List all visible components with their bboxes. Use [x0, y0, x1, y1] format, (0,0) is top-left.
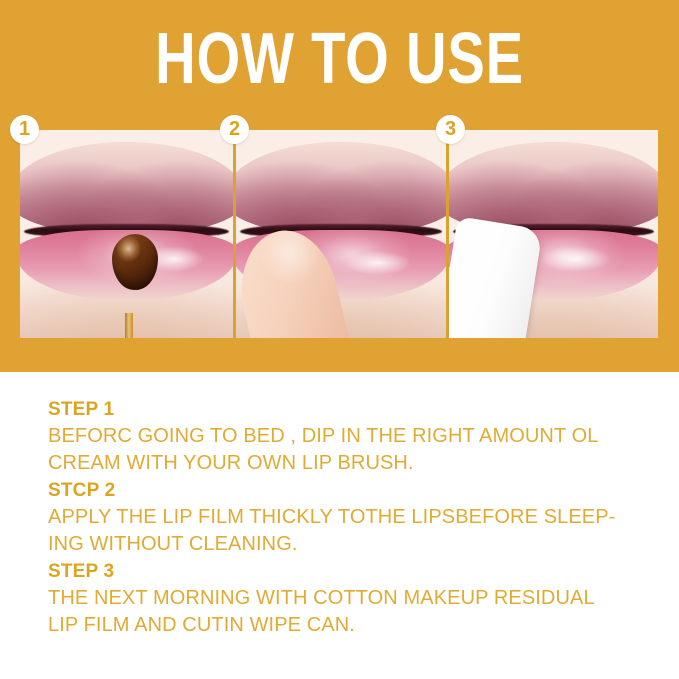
- step-3-line-2: LIP FILM AND CUTIN WIPE CAN.: [48, 612, 648, 639]
- cotton-pad-icon: [446, 216, 543, 338]
- upper-lip: [20, 142, 233, 234]
- page-title: HOW TO USE: [75, 26, 605, 92]
- step-badge-1: 1: [10, 115, 39, 144]
- step-block-1: STEP 1 BEFORC GOING TO BED , DIP IN THE …: [48, 396, 648, 477]
- lip-gloss-highlight: [541, 246, 611, 272]
- step-badge-2: 2: [220, 115, 249, 144]
- instructions-list: STEP 1 BEFORC GOING TO BED , DIP IN THE …: [48, 396, 648, 639]
- applicator-stick-icon: [125, 313, 133, 338]
- step-3-line-1: THE NEXT MORNING WITH COTTON MAKEUP RESI…: [48, 585, 648, 612]
- photo-panel-step-1: [20, 130, 233, 338]
- photo-panel-step-2: [233, 130, 446, 338]
- step-3-heading: STEP 3: [48, 558, 648, 585]
- step-2-heading: STCP 2: [48, 477, 648, 504]
- step-1-line-1: BEFORC GOING TO BED , DIP IN THE RIGHT A…: [48, 423, 648, 450]
- photo-strip: [20, 130, 658, 338]
- lip-gloss-highlight: [345, 251, 411, 275]
- step-2-line-1: APPLY THE LIP FILM THICKLY TOTHE LIPSBEF…: [48, 504, 648, 531]
- how-to-use-infographic: HOW TO USE: [0, 0, 679, 679]
- upper-lip: [233, 142, 446, 234]
- photo-panel-step-3: [446, 130, 658, 338]
- step-2-line-2: ING WITHOUT CLEANING.: [48, 531, 648, 558]
- step-badge-3: 3: [436, 115, 465, 144]
- step-1-line-2: CREAM WITH YOUR OWN LIP BRUSH.: [48, 450, 648, 477]
- step-block-2: STCP 2 APPLY THE LIP FILM THICKLY TOTHE …: [48, 477, 648, 558]
- step-1-heading: STEP 1: [48, 396, 648, 423]
- applicator-wand-icon: [112, 234, 158, 290]
- step-block-3: STEP 3 THE NEXT MORNING WITH COTTON MAKE…: [48, 558, 648, 639]
